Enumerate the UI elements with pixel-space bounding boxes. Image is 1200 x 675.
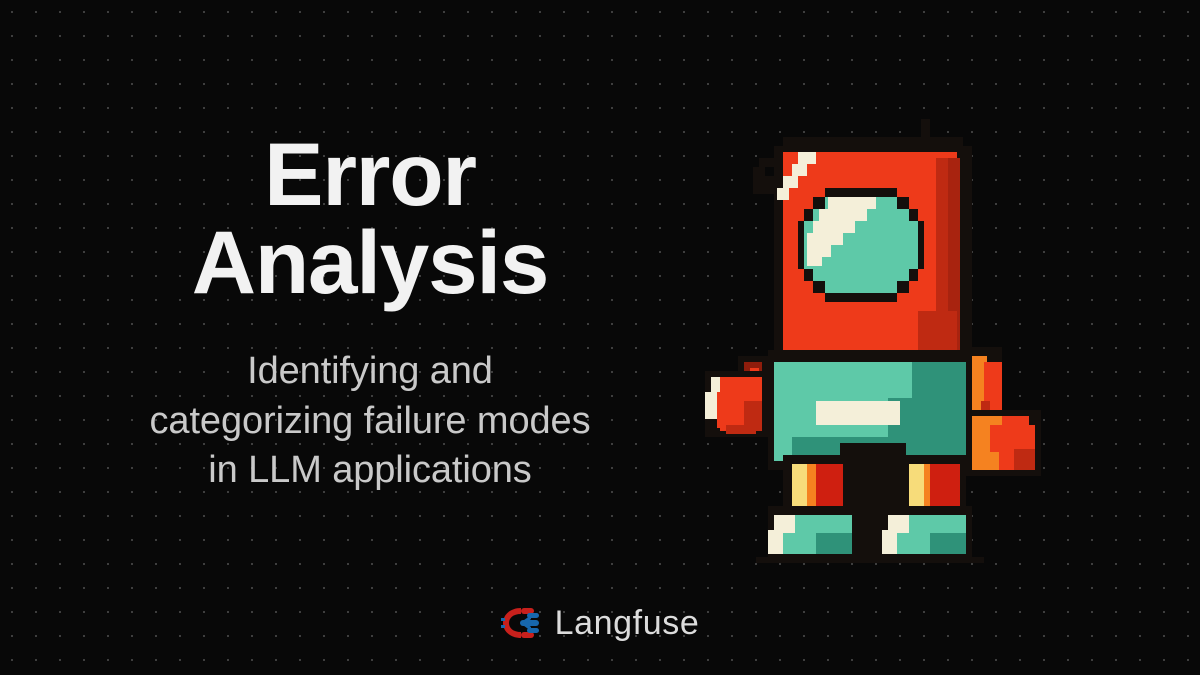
- langfuse-logo-icon: [501, 606, 541, 640]
- page-title: Error Analysis: [40, 130, 700, 306]
- pixel-robot-icon: [684, 112, 1056, 564]
- hero-text-block: Error Analysis Identifying and categoriz…: [40, 130, 700, 495]
- page-subtitle: Identifying and categorizing failure mod…: [40, 306, 700, 495]
- brand-footer: Langfuse: [0, 606, 1200, 640]
- brand-name: Langfuse: [555, 606, 700, 640]
- slide-canvas: Error Analysis Identifying and categoriz…: [0, 0, 1200, 675]
